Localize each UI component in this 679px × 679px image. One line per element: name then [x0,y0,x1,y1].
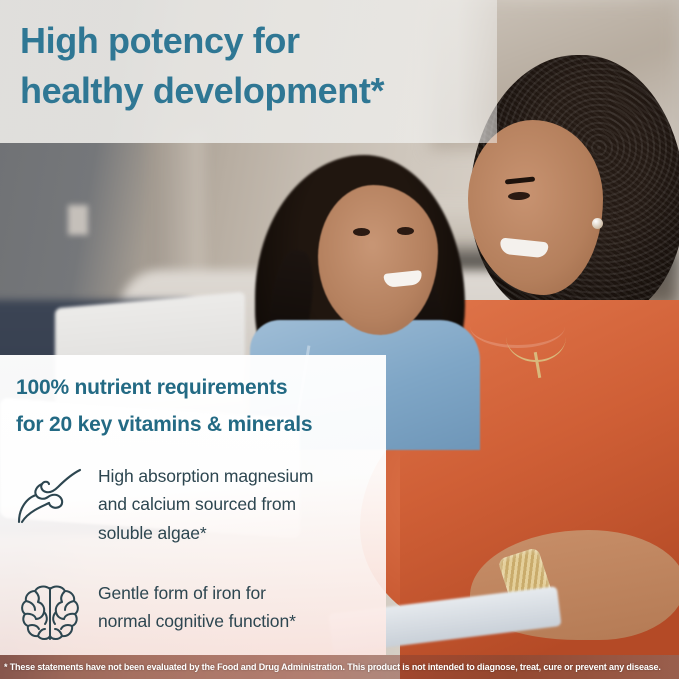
headline: High potency for healthy development* [20,16,490,115]
subheadline-line-1: 100% nutrient requirements [16,369,376,406]
marketing-image: High potency for healthy development* 10… [0,0,679,679]
disclaimer-text: * These statements have not been evaluat… [0,662,661,672]
woman-earring [592,218,603,229]
headline-line-2: healthy development* [20,66,490,116]
feature-item-iron: Gentle form of iron for normal cognitive… [14,577,384,649]
background-light-switch [68,205,88,235]
feature-2-line-2: normal cognitive function* [98,607,296,635]
feature-1-line-1: High absorption magnesium [98,462,313,490]
feature-text-magnesium: High absorption magnesium and calcium so… [98,460,313,547]
subheadline: 100% nutrient requirements for 20 key vi… [16,369,376,444]
girl-eye-right [397,227,414,235]
disclaimer-bar: * These statements have not been evaluat… [0,655,679,679]
feature-item-magnesium: High absorption magnesium and calcium so… [14,460,384,547]
info-panel: 100% nutrient requirements for 20 key vi… [0,355,386,655]
feature-1-line-2: and calcium sourced from [98,490,313,518]
feature-1-line-3: soluble algae* [98,519,313,547]
bone-joint-icon [14,460,86,532]
feature-2-line-1: Gentle form of iron for [98,579,296,607]
brain-icon [14,577,86,649]
girl-eye-left [353,228,370,236]
headline-line-1: High potency for [20,16,490,66]
feature-text-iron: Gentle form of iron for normal cognitive… [98,577,296,636]
header-overlay-panel: High potency for healthy development* [0,0,497,143]
subheadline-line-2: for 20 key vitamins & minerals [16,406,376,443]
